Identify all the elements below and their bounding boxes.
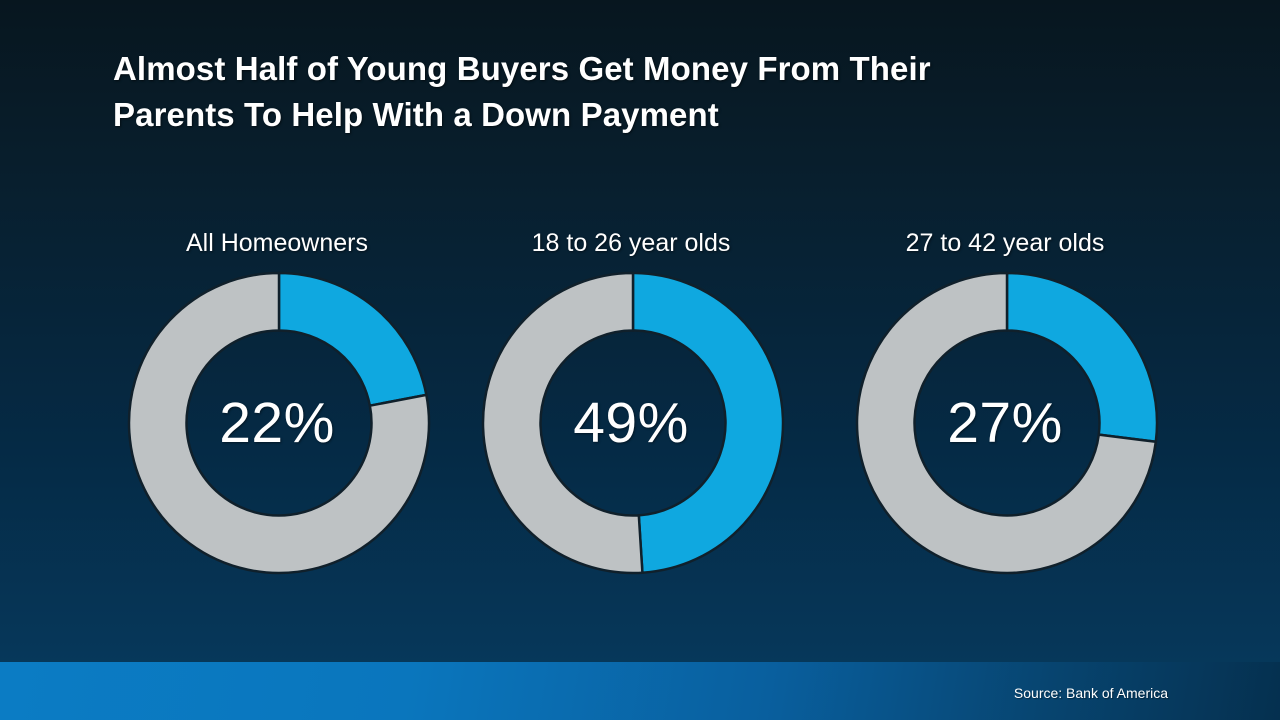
donut-chart-label: 18 to 26 year olds bbox=[451, 228, 811, 258]
donut-svg-2 bbox=[855, 271, 1159, 575]
donut-chart-18-to-26: 18 to 26 year olds 49% bbox=[451, 228, 811, 598]
donut-slice bbox=[1007, 273, 1157, 442]
donut-slice bbox=[633, 273, 783, 573]
donut-chart-label: All Homeowners bbox=[97, 228, 457, 258]
donut-graphic-wrapper: 49% bbox=[451, 271, 811, 581]
donut-graphic-wrapper: 27% bbox=[825, 271, 1185, 581]
source-attribution: Source: Bank of America bbox=[1014, 685, 1168, 701]
donut-slice bbox=[279, 273, 426, 406]
donut-graphic-wrapper: 22% bbox=[97, 271, 457, 581]
title-line-1: Almost Half of Young Buyers Get Money Fr… bbox=[113, 46, 1113, 92]
donut-chart-group: All Homeowners 22% 18 to 26 year olds 49… bbox=[0, 228, 1280, 608]
donut-chart-27-to-42: 27 to 42 year olds 27% bbox=[825, 228, 1185, 598]
page-title: Almost Half of Young Buyers Get Money Fr… bbox=[113, 46, 1113, 138]
slide-canvas: Almost Half of Young Buyers Get Money Fr… bbox=[0, 0, 1280, 720]
title-line-2: Parents To Help With a Down Payment bbox=[113, 92, 1113, 138]
donut-svg-1 bbox=[481, 271, 785, 575]
donut-chart-label: 27 to 42 year olds bbox=[825, 228, 1185, 258]
donut-chart-all-homeowners: All Homeowners 22% bbox=[97, 228, 457, 598]
donut-slice bbox=[483, 273, 642, 573]
donut-svg-0 bbox=[127, 271, 431, 575]
